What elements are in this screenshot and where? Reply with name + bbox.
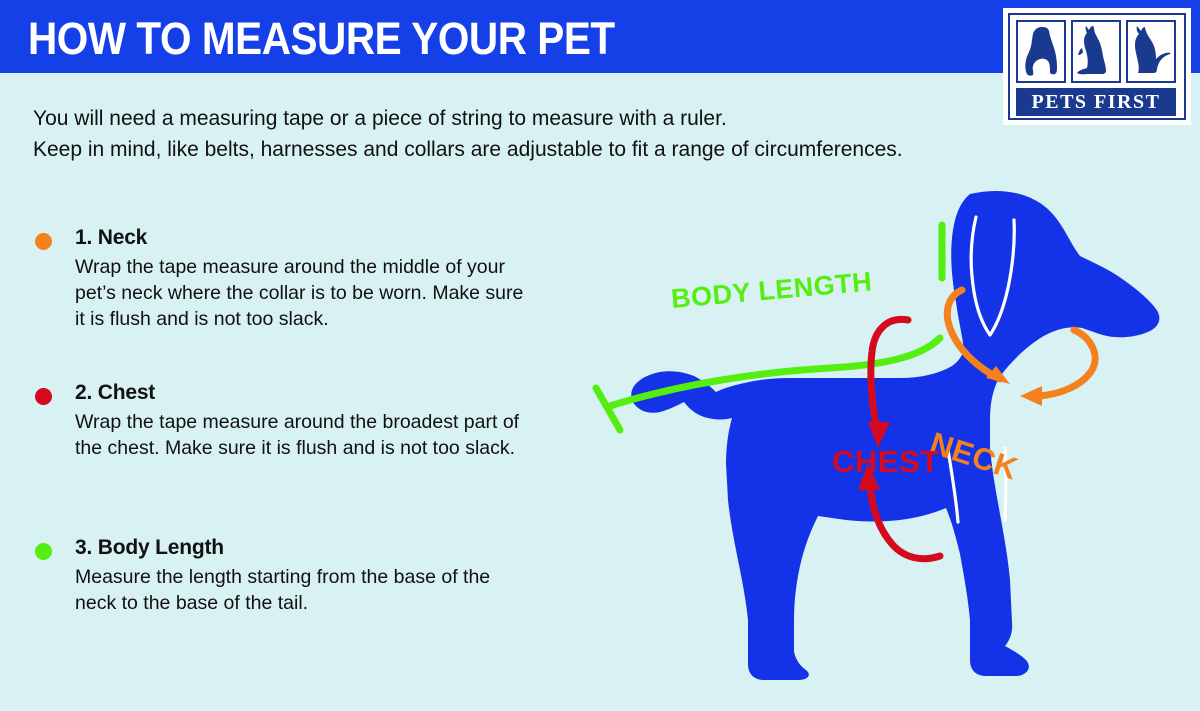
dog-silhouette-sitting-alert-icon bbox=[1126, 20, 1176, 83]
step-title-neck: 1. Neck bbox=[75, 225, 533, 251]
page-title: HOW TO MEASURE YOUR PET bbox=[28, 14, 615, 64]
logo-wordmark: PETS FIRST bbox=[1016, 88, 1176, 116]
intro-line-2: Keep in mind, like belts, harnesses and … bbox=[33, 134, 983, 165]
step-item-neck: 1. Neck Wrap the tape measure around the… bbox=[33, 225, 533, 332]
intro-text: You will need a measuring tape or a piec… bbox=[33, 103, 983, 165]
step-bullet-chest bbox=[35, 388, 52, 405]
step-item-body-length: 3. Body Length Measure the length starti… bbox=[33, 535, 533, 616]
step-bullet-body-length bbox=[35, 543, 52, 560]
dog-silhouette-begging-icon bbox=[1071, 20, 1121, 83]
step-title-chest: 2. Chest bbox=[75, 380, 533, 406]
dog-silhouette-icon bbox=[631, 191, 1159, 680]
dog-silhouette-sitting-icon bbox=[1016, 20, 1066, 83]
step-item-chest: 2. Chest Wrap the tape measure around th… bbox=[33, 380, 533, 461]
chest-label: CHEST bbox=[832, 444, 940, 479]
step-description-neck: Wrap the tape measure around the middle … bbox=[75, 254, 533, 332]
logo-frame: PETS FIRST bbox=[1008, 13, 1186, 120]
body-length-label: BODY LENGTH bbox=[670, 267, 873, 314]
intro-line-1: You will need a measuring tape or a piec… bbox=[33, 103, 983, 134]
infographic-page: HOW TO MEASURE YOUR PET PETS FIRST bbox=[0, 0, 1200, 711]
step-bullet-neck bbox=[35, 233, 52, 250]
step-body-neck: 1. Neck Wrap the tape measure around the… bbox=[75, 225, 533, 332]
dog-measurement-diagram: BODY LENGTH NECK CHEST bbox=[500, 180, 1200, 711]
brand-logo: PETS FIRST bbox=[1003, 8, 1191, 125]
step-title-body-length: 3. Body Length bbox=[75, 535, 533, 561]
step-description-chest: Wrap the tape measure around the broades… bbox=[75, 409, 533, 461]
step-body-body-length: 3. Body Length Measure the length starti… bbox=[75, 535, 533, 616]
step-description-body-length: Measure the length starting from the bas… bbox=[75, 564, 533, 616]
step-body-chest: 2. Chest Wrap the tape measure around th… bbox=[75, 380, 533, 461]
